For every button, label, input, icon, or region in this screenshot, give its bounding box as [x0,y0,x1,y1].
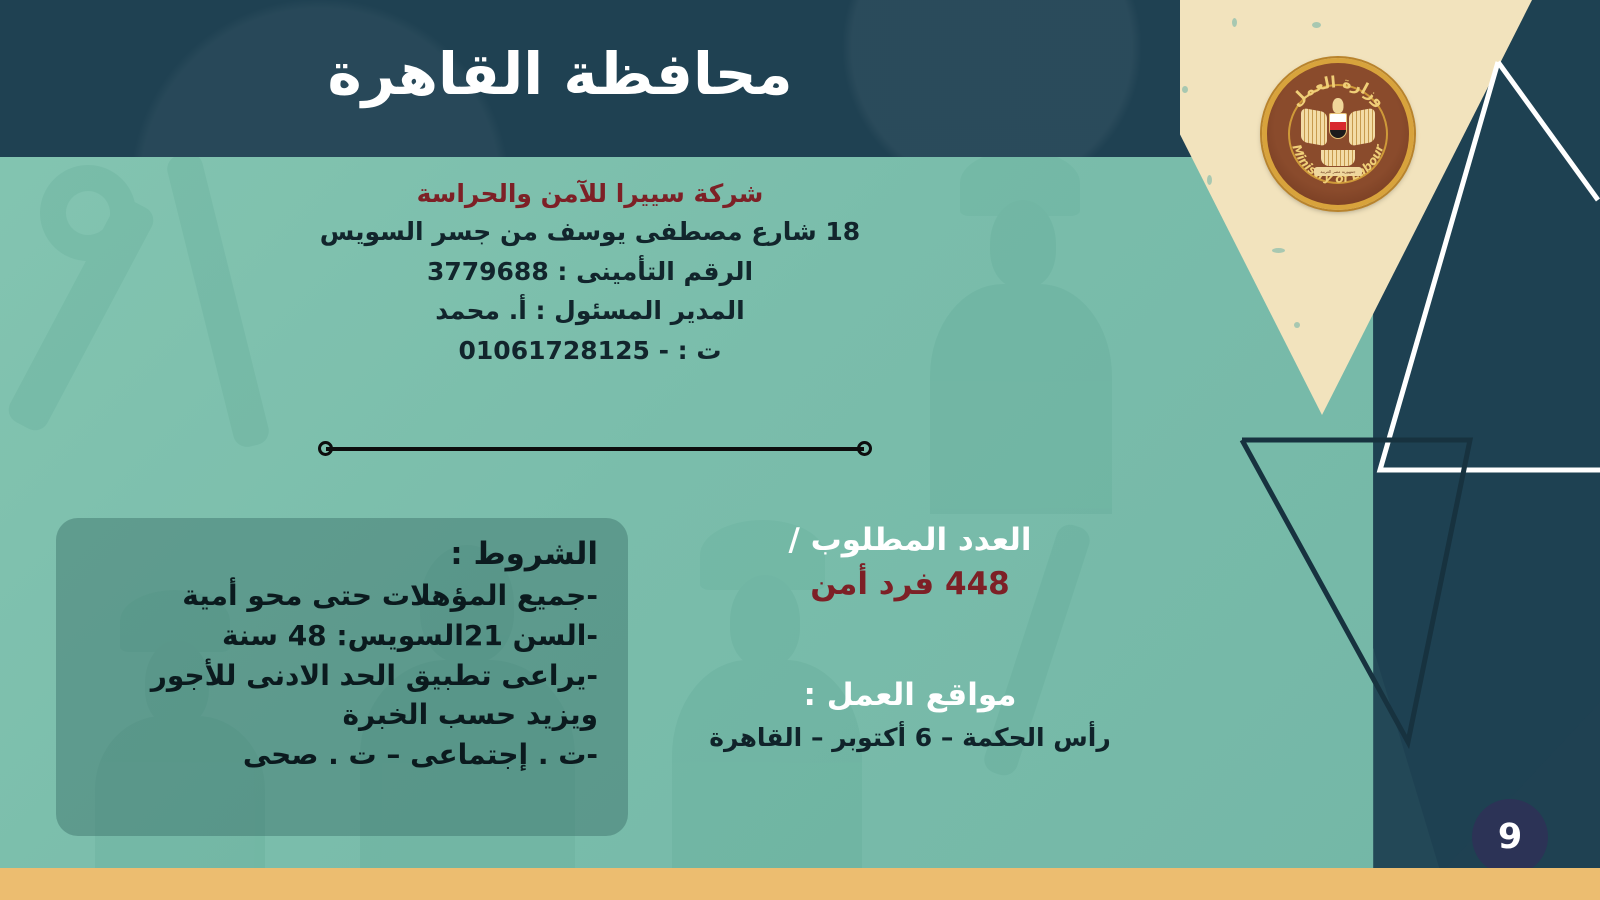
required-count-value: 448 فرد أمن [640,562,1180,606]
condition-item: -جميع المؤهلات حتى محو أمية [74,576,598,616]
divider-bar [326,447,864,451]
condition-item: -ت . إجتماعى – ت . صحى [74,735,598,775]
work-locations-value: رأس الحكمة – 6 أكتوبر – القاهرة [640,719,1180,757]
required-count-block: العدد المطلوب / 448 فرد أمن [640,518,1180,606]
company-info-block: شركة سييرا للآمن والحراسة 18 شارع مصطفى … [0,176,1180,370]
page-title: محافظة القاهرة [0,44,1360,105]
section-divider [318,441,872,457]
eagle-shield-flag [1329,113,1347,139]
page-number-badge: 9 [1472,799,1548,875]
dark-triangle-outline [1242,440,1470,742]
slide-canvas: محافظة القاهرة [0,0,1600,900]
conditions-title: الشروط : [74,532,598,576]
company-address: 18 شارع مصطفى يوسف من جسر السويس [0,212,1180,252]
company-phone: ت : - 01061728125 [0,331,1180,371]
work-locations-block: مواقع العمل : رأس الحكمة – 6 أكتوبر – ال… [640,672,1180,756]
eagle-wing-left [1301,108,1327,147]
required-count-label: العدد المطلوب / [640,518,1180,562]
eagle-tail [1321,150,1355,166]
white-triangle-upper-edge [1498,62,1598,200]
divider-dot-right [857,441,872,456]
condition-item: -السن 21السويس: 48 سنة [74,616,598,656]
work-locations-label: مواقع العمل : [640,672,1180,719]
company-name: شركة سييرا للآمن والحراسة [0,176,1180,212]
bottom-accent-band [0,868,1600,900]
company-manager: المدير المسئول : أ. محمد [0,291,1180,331]
eagle-head [1333,98,1344,113]
condition-item: ويزيد حسب الخبرة [74,695,598,735]
conditions-panel: الشروط : -جميع المؤهلات حتى محو أمية -ال… [56,518,628,836]
eagle-scroll-text: جمهورية مصر العربية [1314,167,1362,176]
company-insurance-number: الرقم التأمينى : 3779688 [0,252,1180,292]
ministry-of-labour-logo: وزارة العمل Ministry of Labour جمهورية م… [1262,58,1414,210]
condition-item: -يراعى تطبيق الحد الادنى للأجور [74,656,598,696]
egyptian-eagle-icon: جمهورية مصر العربية [1301,96,1375,172]
eagle-wing-right [1349,108,1375,147]
